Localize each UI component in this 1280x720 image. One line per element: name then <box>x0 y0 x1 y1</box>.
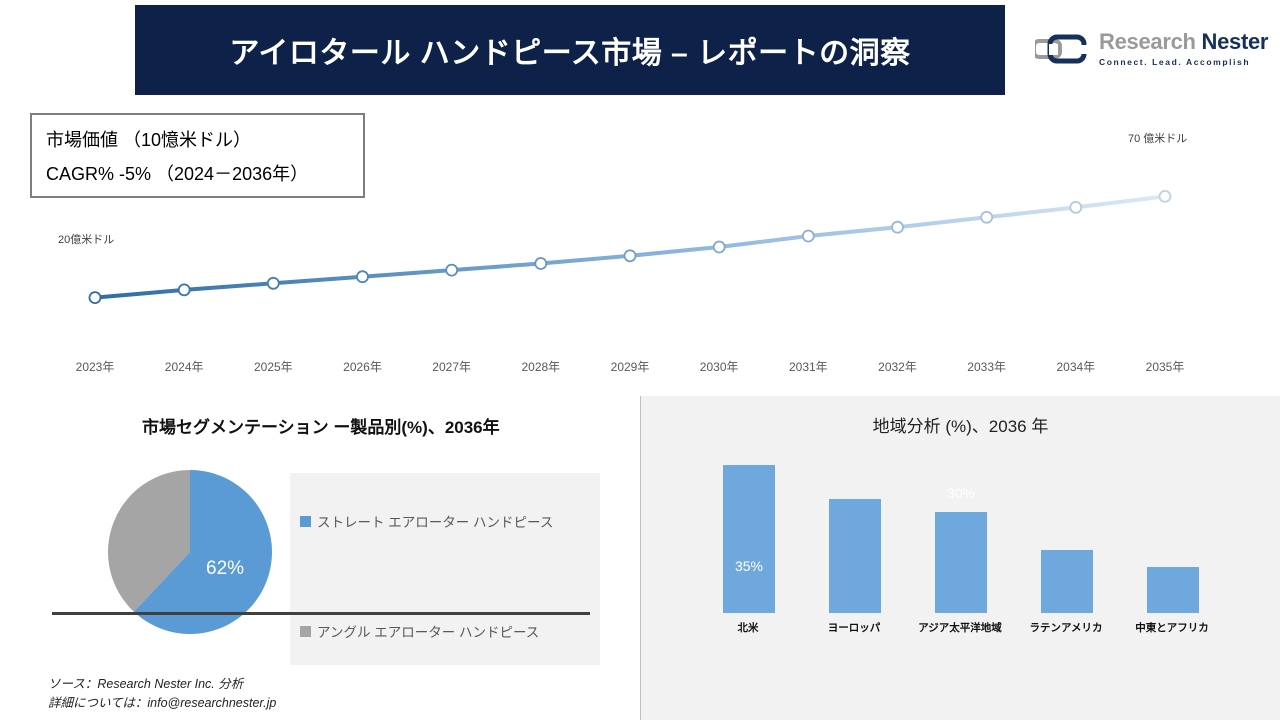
line-data-point <box>1070 202 1081 213</box>
line-data-point <box>446 265 457 276</box>
legend-swatch-grey <box>300 626 311 637</box>
line-chart-x-label: 2034年 <box>1056 358 1095 375</box>
bar-5[interactable] <box>1147 567 1199 613</box>
legend-label-angle: アングル エアローター ハンドピース <box>317 621 539 641</box>
line-chart-x-label: 2032年 <box>878 358 917 375</box>
regional-bar-chart: 35%30% <box>696 456 1226 613</box>
pie-slice-value: 62% <box>206 558 244 580</box>
bar-1[interactable] <box>723 465 775 613</box>
logo-name-part2: Nester <box>1201 29 1268 54</box>
page-title: アイロタール ハンドピース市場 – レポートの洞察 <box>229 28 910 72</box>
line-chart-x-label: 2028年 <box>521 358 560 375</box>
legend-item-straight[interactable]: ストレート エアローター ハンドピース <box>300 511 553 531</box>
line-chart-x-label: 2027年 <box>432 358 471 375</box>
line-chart-x-axis: 2023年2024年2025年2026年2027年2028年2029年2030年… <box>50 358 1230 380</box>
bar-chart-x-label: 中東とアフリカ <box>1135 620 1209 635</box>
line-data-point <box>981 212 992 223</box>
line-chart-x-label: 2026年 <box>343 358 382 375</box>
bar-chart-x-label: ラテンアメリカ <box>1030 620 1103 635</box>
regional-analysis-title: 地域分析 (%)、2036 年 <box>641 412 1280 437</box>
segmentation-pie-chart <box>95 470 285 635</box>
bar-4[interactable] <box>1041 550 1093 613</box>
logo-tagline: Connect. Lead. Accomplish <box>1099 58 1268 67</box>
line-data-point <box>892 222 903 233</box>
line-data-point <box>179 284 190 295</box>
line-data-point <box>625 250 636 261</box>
research-nester-logo-icon <box>1035 32 1091 66</box>
bar-chart-x-label: 北米 <box>738 620 759 635</box>
line-chart-x-label: 2025年 <box>254 358 293 375</box>
line-chart-x-label: 2035年 <box>1146 358 1185 375</box>
bar-chart-baseline <box>52 612 590 615</box>
line-data-point <box>357 271 368 282</box>
legend-swatch-blue <box>300 516 311 527</box>
line-data-point <box>714 242 725 253</box>
source-line: ソース：Research Nester Inc. 分析 <box>48 675 276 694</box>
line-chart-x-label: 2029年 <box>611 358 650 375</box>
line-chart-x-label: 2033年 <box>967 358 1006 375</box>
source-footnote: ソース：Research Nester Inc. 分析 詳細については：info… <box>48 675 276 714</box>
bar-2[interactable] <box>829 499 881 613</box>
regional-analysis-panel: 地域分析 (%)、2036 年 35%30% <box>640 396 1280 720</box>
bar-value-label: 35% <box>735 558 763 574</box>
line-chart-x-label: 2023年 <box>76 358 115 375</box>
market-value-line-chart <box>0 100 1280 390</box>
bar-3[interactable] <box>935 512 987 613</box>
bar-chart-x-label: アジア太平洋地域 <box>918 620 1002 635</box>
pie-legend: ストレート エアローター ハンドピース アングル エアローター ハンドピース <box>290 473 600 665</box>
contact-line: 詳細については：info@researchnester.jp <box>48 694 276 713</box>
line-data-point <box>268 278 279 289</box>
segmentation-panel: 市場セグメンテーション ー製品別(%)、2036年 62% ストレート エアロー… <box>0 395 625 720</box>
brand-logo: Research Nester Connect. Lead. Accomplis… <box>1035 20 1265 78</box>
line-data-point <box>1160 191 1171 202</box>
line-data-point <box>535 258 546 269</box>
logo-name-part1: Research <box>1099 29 1196 54</box>
legend-label-straight: ストレート エアローター ハンドピース <box>317 511 553 531</box>
line-chart-x-label: 2031年 <box>789 358 828 375</box>
line-chart-x-label: 2030年 <box>700 358 739 375</box>
line-data-point <box>803 231 814 242</box>
header-banner: アイロタール ハンドピース市場 – レポートの洞察 <box>135 5 1005 95</box>
bar-chart-x-label: ヨーロッパ <box>828 620 881 635</box>
line-data-point <box>90 292 101 303</box>
line-chart-x-label: 2024年 <box>165 358 204 375</box>
legend-item-angle[interactable]: アングル エアローター ハンドピース <box>300 621 539 641</box>
bar-value-label: 30% <box>947 485 975 501</box>
segmentation-title: 市場セグメンテーション ー製品別(%)、2036年 <box>142 413 500 438</box>
